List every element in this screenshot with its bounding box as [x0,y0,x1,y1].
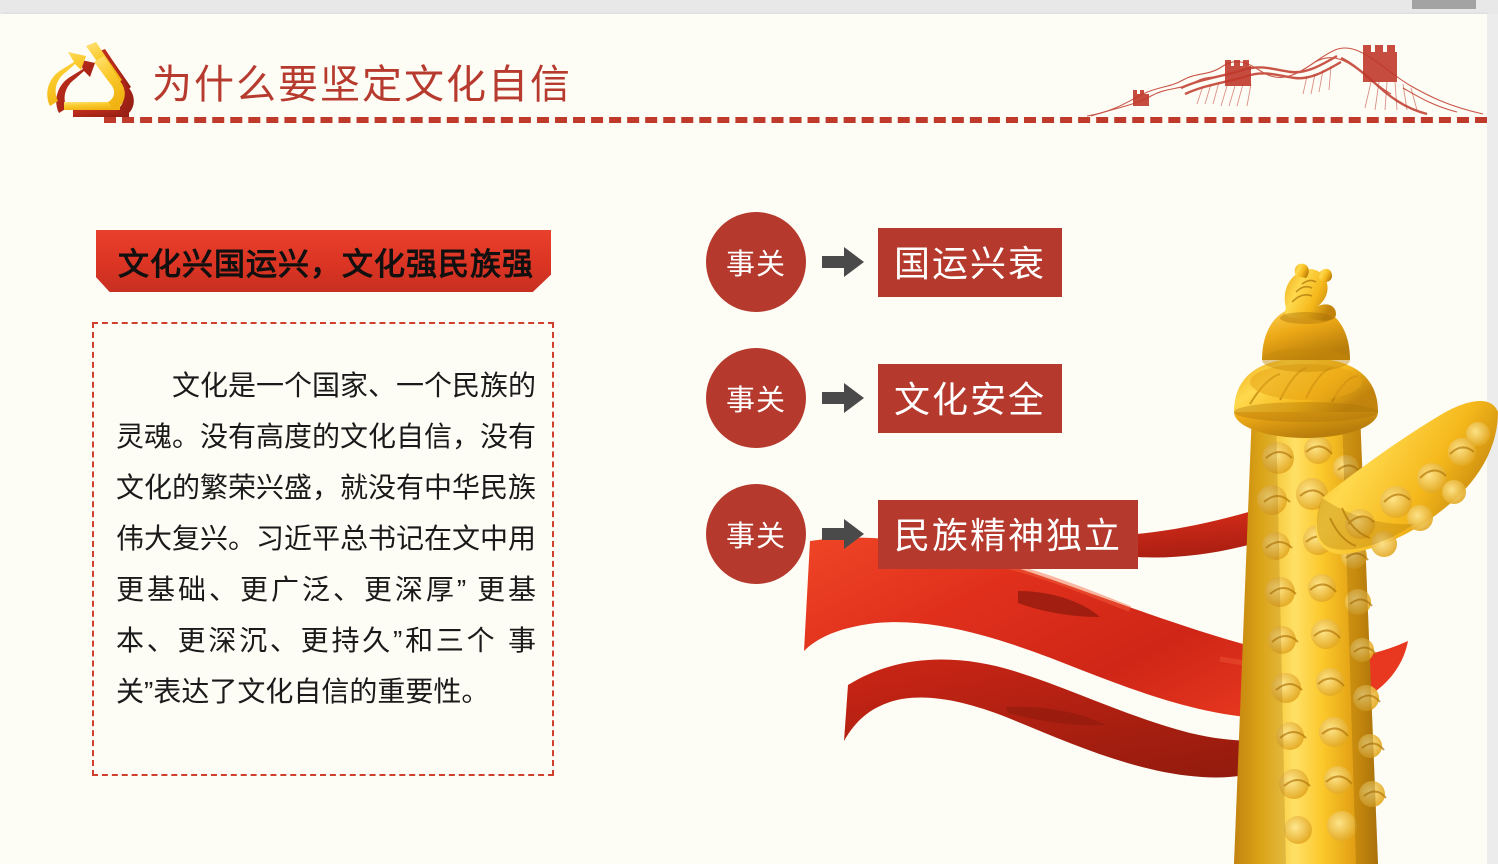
note-text: 文化是一个国家、一个民族的灵魂。没有高度的文化自信，没有文化的繁荣兴盛，就没有中… [116,360,536,717]
point-label: 国运兴衰 [878,228,1062,297]
point-label: 民族精神独立 [878,500,1138,569]
slide-header: 为什么要坚定文化自信 [0,0,1487,135]
point-circle-label: 事关 [706,212,806,312]
note-box: 文化是一个国家、一个民族的灵魂。没有高度的文化自信，没有文化的繁荣兴盛，就没有中… [92,322,554,776]
section-banner: 文化兴国运兴，文化强民族强 [96,230,551,292]
great-wall-illustration-icon [1085,36,1485,120]
huabiao-golden-column-icon [1146,262,1498,864]
point-circle-label: 事关 [706,484,806,584]
arrow-right-icon [820,517,866,551]
list-item[interactable]: 事关 国运兴衰 [706,212,1138,312]
arrow-right-icon [820,245,866,279]
page-title: 为什么要坚定文化自信 [152,52,572,110]
cpc-party-emblem-icon [28,36,146,128]
list-item[interactable]: 事关 文化安全 [706,348,1138,448]
slide-canvas: 为什么要坚定文化自信 [0,0,1498,864]
point-circle-label: 事关 [706,348,806,448]
arrow-right-icon [820,381,866,415]
point-label: 文化安全 [878,364,1062,433]
key-points-list: 事关 国运兴衰 事关 文化安全 事关 [706,212,1138,620]
section-banner-label: 文化兴国运兴，文化强民族强 [118,239,534,284]
header-divider [104,117,1487,123]
